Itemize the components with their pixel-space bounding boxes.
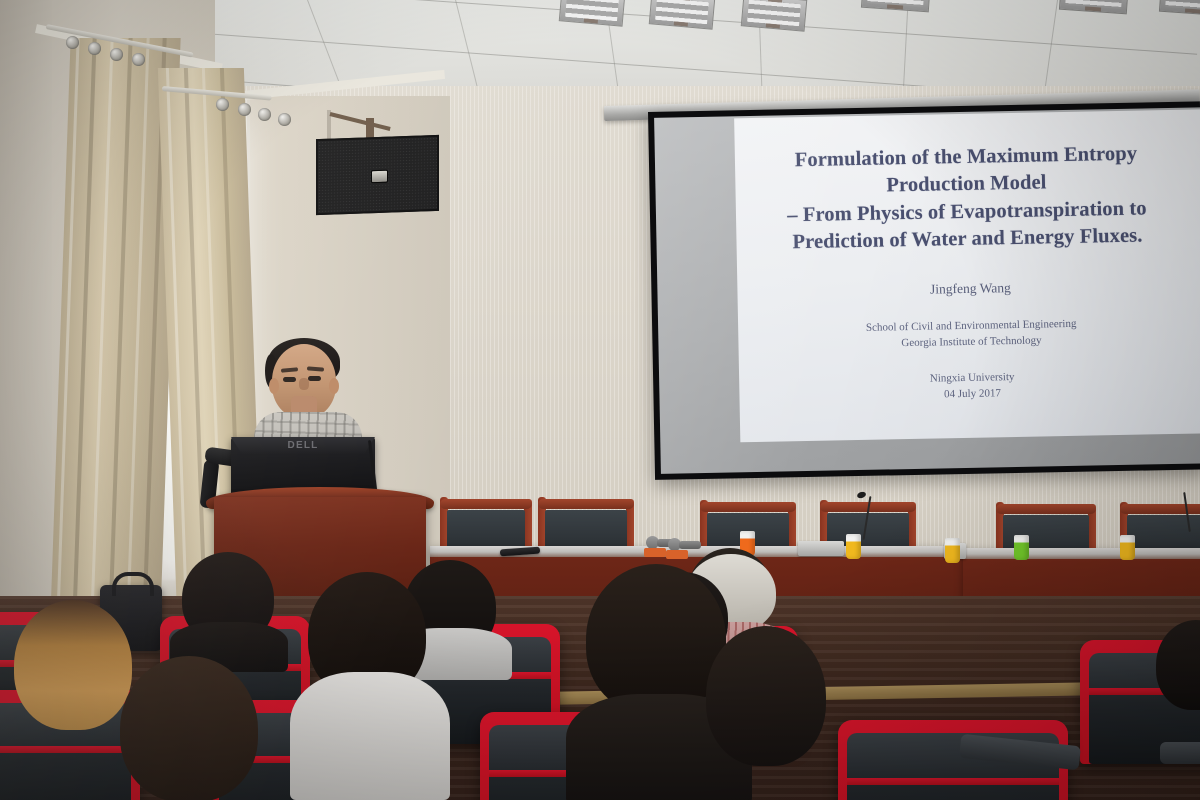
slide-venue: Ningxia University 04 July 2017 [739, 366, 1200, 407]
presenter-ear [329, 378, 339, 394]
audience-head [120, 656, 258, 800]
curtain-grommet [88, 42, 101, 55]
ceiling-speaker [316, 135, 439, 215]
ceiling-light-fixture [741, 0, 808, 32]
ceiling-light-fixture [559, 0, 626, 27]
presenter-ear [269, 378, 279, 394]
curtain-grommet [216, 98, 229, 111]
table-top-surface [963, 548, 1200, 559]
presentation-room-photo: Formulation of the Maximum Entropy Produ… [0, 0, 1200, 800]
screen-surface: Formulation of the Maximum Entropy Produ… [654, 107, 1200, 473]
microphone-base-unit[interactable] [798, 541, 844, 556]
curtain-grommet [278, 113, 291, 126]
curtain-grommet [66, 36, 79, 49]
presenter-eye [308, 376, 321, 381]
slide-content: Formulation of the Maximum Entropy Produ… [734, 109, 1200, 442]
speaker-mount-bracket [366, 118, 374, 138]
presenter-nose [299, 378, 309, 390]
wall-pier [0, 0, 52, 680]
ceiling-light-fixture [1159, 0, 1200, 16]
projection-screen[interactable]: Formulation of the Maximum Entropy Produ… [648, 101, 1200, 480]
ceiling-light-fixture [861, 0, 931, 12]
backpack-handle [112, 572, 154, 596]
slide-title: Formulation of the Maximum Entropy Produ… [735, 139, 1200, 257]
cup-yellow-3 [1120, 535, 1135, 560]
ceiling-light-fixture [649, 0, 716, 30]
curtain-grommet [258, 108, 271, 121]
audience-head-blonde [14, 600, 132, 730]
cup-green [1014, 535, 1029, 560]
seat-armrest [1160, 742, 1200, 764]
handheld-microphone[interactable] [668, 538, 704, 554]
speaker-badge [371, 170, 388, 184]
audience-head [586, 564, 726, 714]
slide-affiliation: School of Civil and Environmental Engine… [738, 314, 1200, 355]
slide-author: Jingfeng Wang [737, 276, 1200, 301]
presenter-eye [283, 377, 296, 382]
dell-logo: DELL [288, 440, 319, 451]
curtain-grommet [132, 53, 145, 66]
cup-yellow-2 [945, 538, 960, 563]
cup-yellow-1 [846, 534, 861, 559]
audience-shoulder [290, 672, 450, 800]
ceiling-light-fixture [1059, 0, 1129, 14]
audience-head [706, 626, 826, 766]
curtain-grommet [110, 48, 123, 61]
curtain-grommet [238, 103, 251, 116]
